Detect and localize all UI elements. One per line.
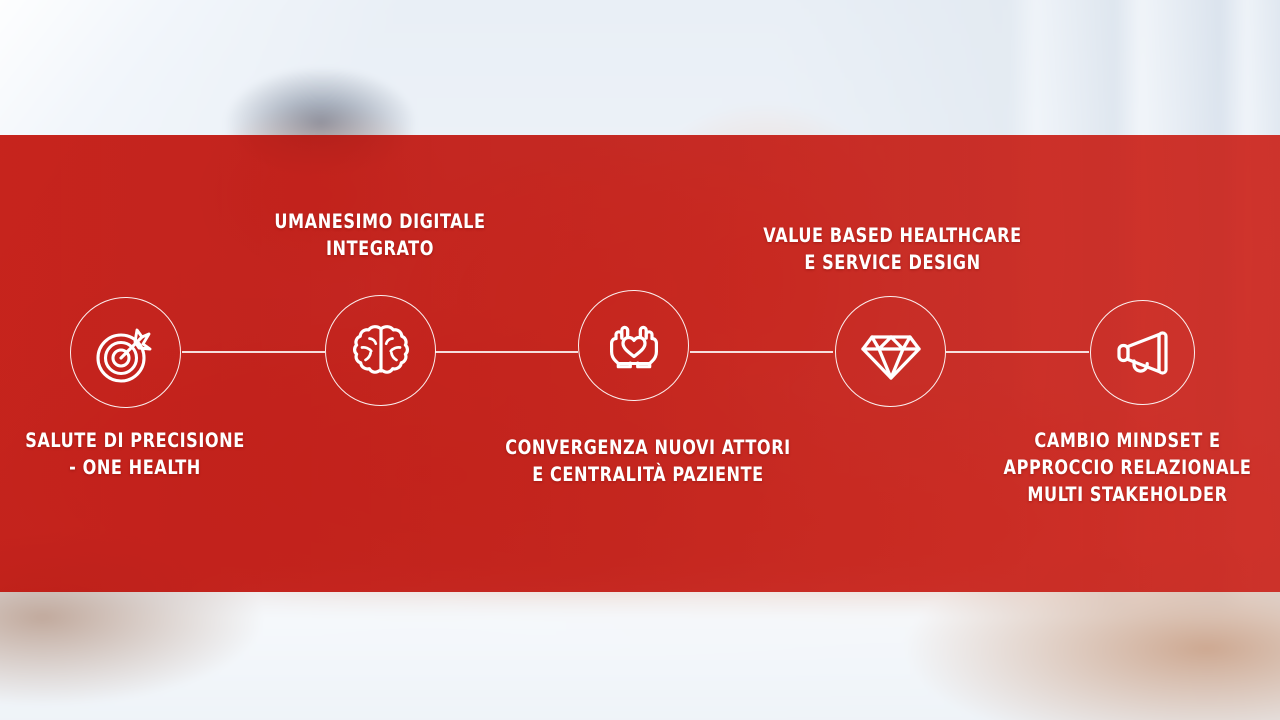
infographic-stage: SALUTE DI PRECISIONE - ONE HEALTH UMANES…: [0, 0, 1280, 720]
brain-icon: [346, 316, 416, 386]
connector-2-3: [435, 351, 578, 353]
connector-3-4: [690, 351, 833, 353]
caption-salute-di-precisione: SALUTE DI PRECISIONE - ONE HEALTH: [11, 427, 259, 481]
diamond-icon: [856, 317, 926, 387]
caption-convergenza-nuovi-attori: CONVERGENZA NUOVI ATTORI E CENTRALITÀ PA…: [487, 434, 809, 488]
node-circle-convergenza-nuovi-attori[interactable]: [578, 290, 689, 401]
caption-value-based-healthcare: VALUE BASED HEALTHCARE E SERVICE DESIGN: [752, 222, 1033, 276]
connector-4-5: [946, 351, 1089, 353]
caption-cambio-mindset: CAMBIO MINDSET E APPROCCIO RELAZIONALE M…: [987, 427, 1268, 508]
caption-umanesimo-digitale: UMANESIMO DIGITALE INTEGRATO: [242, 208, 518, 262]
megaphone-icon: [1109, 319, 1177, 387]
node-circle-salute-di-precisione[interactable]: [70, 297, 181, 408]
connector-1-2: [182, 351, 325, 353]
hands-heart-icon: [599, 311, 669, 381]
node-circle-value-based-healthcare[interactable]: [835, 296, 946, 407]
node-circle-cambio-mindset[interactable]: [1090, 300, 1195, 405]
target-arrow-icon: [90, 317, 162, 389]
timeline: SALUTE DI PRECISIONE - ONE HEALTH UMANES…: [0, 0, 1280, 720]
node-circle-umanesimo-digitale[interactable]: [325, 295, 436, 406]
